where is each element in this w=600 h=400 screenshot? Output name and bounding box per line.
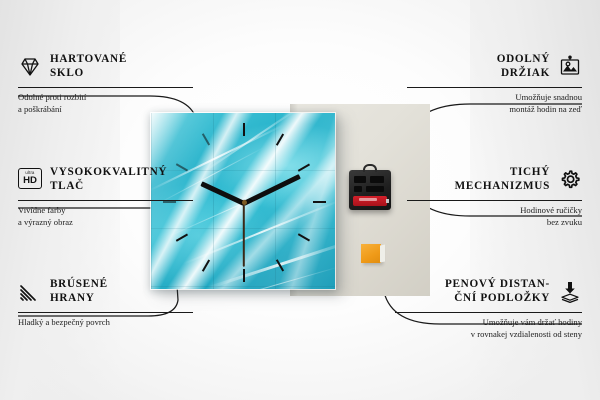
gear-icon [558, 168, 582, 192]
hd-label: HD [23, 176, 37, 186]
feature-divider [18, 200, 193, 201]
feature-title: ODOLNÝ DRŽIAK [497, 53, 550, 80]
clock-tick [243, 269, 245, 282]
ultra-hd-icon: ultra HD [18, 168, 42, 192]
feature-description: Odolné proti rozbití a poškrábání [18, 92, 193, 116]
clock-center-cap [242, 200, 247, 205]
foam-spacer-pad [361, 244, 381, 263]
polished-edges-icon [18, 280, 42, 304]
feature-description: Hodinové ručičky bez zvuku [407, 205, 582, 229]
movement-slot [366, 186, 384, 192]
battery [353, 196, 387, 206]
feature-high-quality-print: ultra HD VYSOKOKVALITNÝ TLAČ Vivídne far… [18, 163, 193, 229]
feature-description: Umožňuje snadnou montáž hodin na zeď [407, 92, 582, 116]
movement-slot [370, 176, 384, 183]
feature-description: Umožňuje vám držať hodiny v rovnakej vzd… [395, 317, 582, 341]
feature-divider [18, 312, 193, 313]
feature-polished-edges: BRÚSENÉ HRANY Hladký a bezpečný povrch [18, 275, 193, 329]
picture-frame-icon [558, 55, 582, 79]
feature-divider [395, 312, 582, 313]
movement-slot [354, 176, 366, 183]
feature-description: Vivídne farby a výrazný obraz [18, 205, 193, 229]
movement-hanger [363, 164, 377, 172]
feature-title: VYSOKOKVALITNÝ TLAČ [50, 166, 167, 193]
feature-title: HARTOVANÉ SKLO [50, 53, 127, 80]
feature-header: ODOLNÝ DRŽIAK [407, 50, 582, 84]
feature-foam-spacers: PENOVÝ DISTAN- ČNÍ PODLOŽKY Umožňuje vám… [395, 275, 582, 341]
clock-tick [313, 201, 326, 203]
feature-divider [407, 87, 582, 88]
feature-durable-hanger: ODOLNÝ DRŽIAK Umožňuje snadnou montáž ho… [407, 50, 582, 116]
feature-header: HARTOVANÉ SKLO [18, 50, 193, 84]
feature-title: TICHÝ MECHANIZMUS [455, 166, 550, 193]
feature-divider [18, 87, 193, 88]
diamond-icon [18, 55, 42, 79]
feature-title: BRÚSENÉ HRANY [50, 278, 108, 305]
feature-description: Hladký a bezpečný povrch [18, 317, 193, 329]
clock-tick [243, 123, 245, 136]
feature-hardened-glass: HARTOVANÉ SKLO Odolné proti rozbití a po… [18, 50, 193, 116]
feature-silent-mechanism: TICHÝ MECHANIZMUS Hodinové ručičky bez z… [407, 163, 582, 229]
battery-label [359, 198, 377, 201]
foam-pad-icon [558, 280, 582, 304]
feature-header: ultra HD VYSOKOKVALITNÝ TLAČ [18, 163, 193, 197]
second-hand [243, 203, 245, 267]
feature-header: PENOVÝ DISTAN- ČNÍ PODLOŽKY [395, 275, 582, 309]
feature-header: TICHÝ MECHANIZMUS [407, 163, 582, 197]
feature-title: PENOVÝ DISTAN- ČNÍ PODLOŽKY [445, 278, 550, 305]
feature-header: BRÚSENÉ HRANY [18, 275, 193, 309]
clock-movement [349, 170, 391, 210]
movement-slot [354, 186, 362, 192]
feature-divider [407, 200, 582, 201]
